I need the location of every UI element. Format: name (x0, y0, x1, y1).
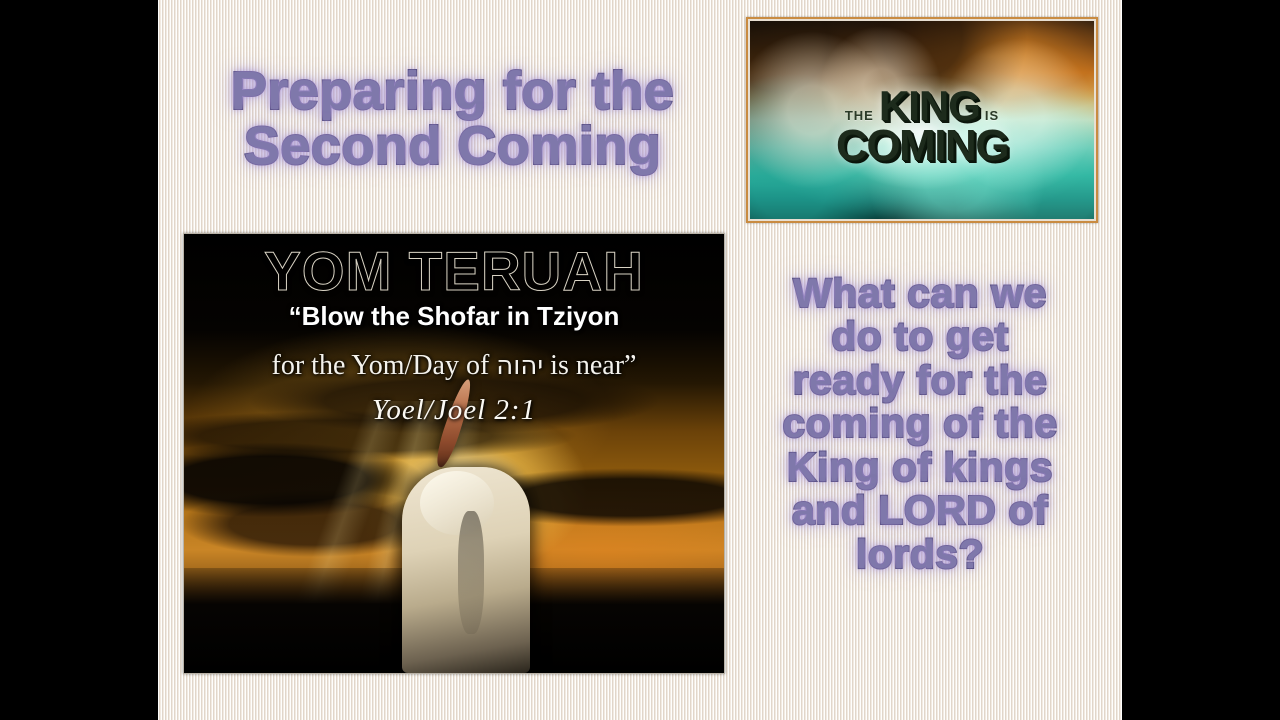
tetragrammaton-hebrew: יהוה (496, 351, 543, 381)
page-title: Preparing for the Second Coming (180, 64, 725, 174)
yom-teruah-verse: for the Yom/Day of יהוה is near” (184, 350, 724, 382)
yom-teruah-reference: Yoel/Joel 2:1 (184, 394, 724, 427)
yom-teruah-subtitle: “Blow the Shofar in Tziyon (184, 301, 724, 332)
verse-text-before: for the Yom/Day of (272, 350, 497, 381)
king-caption-coming: COMING (836, 121, 1008, 171)
letterbox-bar-right (1122, 0, 1280, 720)
slide-stage: Preparing for the Second Coming THE KING… (0, 0, 1280, 720)
letterbox-bar-left (0, 0, 158, 720)
king-is-coming-image: THE KING IS COMING (746, 17, 1098, 223)
yom-teruah-image: YOM TERUAH “Blow the Shofar in Tziyon fo… (183, 233, 725, 674)
king-image-artwork: THE KING IS COMING (750, 21, 1094, 219)
yom-image-caption: YOM TERUAH “Blow the Shofar in Tziyon fo… (184, 234, 724, 673)
king-image-caption: THE KING IS COMING (750, 21, 1094, 219)
question-text: What can we do to get ready for the comi… (765, 272, 1075, 576)
yom-teruah-title: YOM TERUAH (184, 244, 724, 299)
verse-text-after: is near” (543, 350, 636, 381)
